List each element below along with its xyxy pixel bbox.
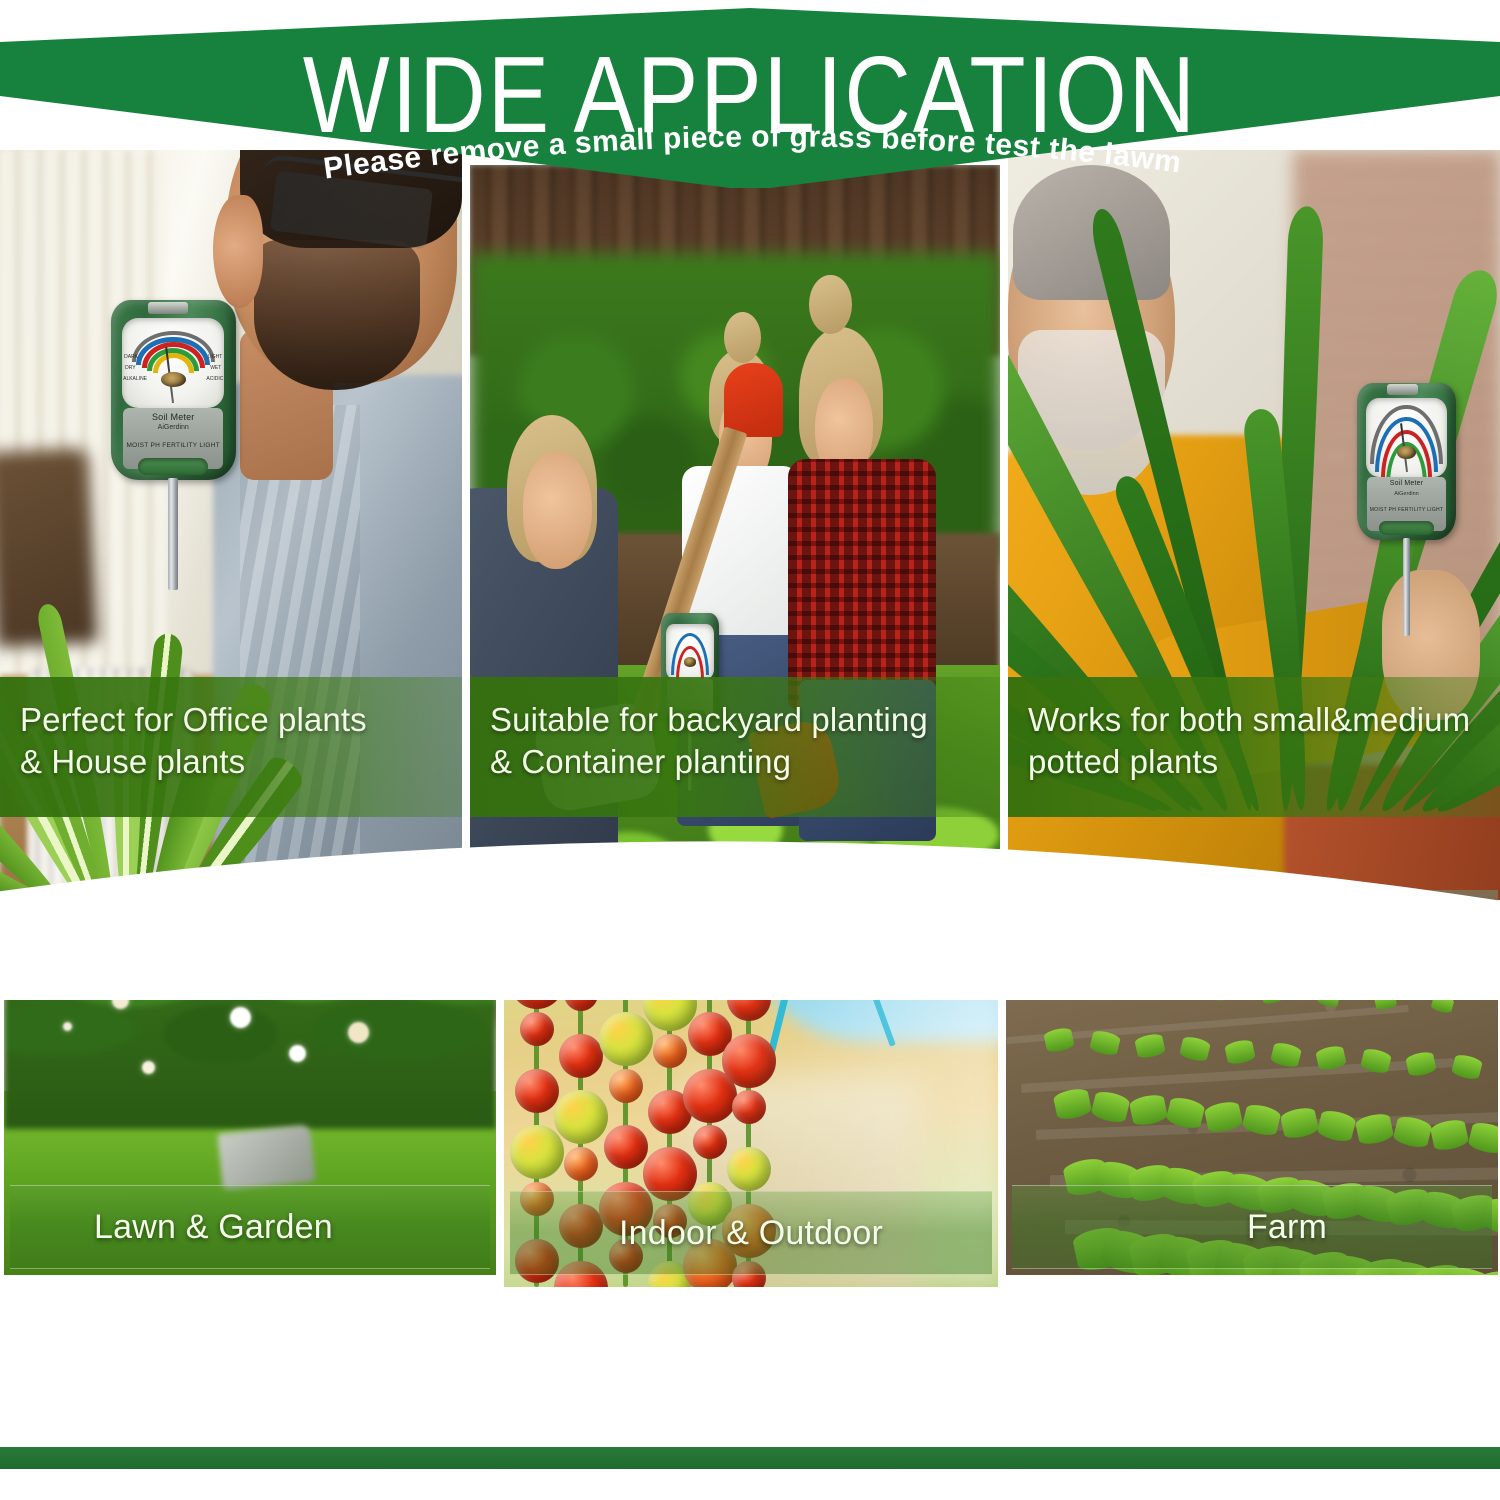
girl2-plaid-shirt [788, 459, 936, 709]
header-title-wrap: WIDE APPLICATION [0, 0, 1500, 200]
dial-label-wet: WET [210, 365, 221, 371]
caption-office-house-plants: Perfect for Office plants & House plants [0, 677, 462, 817]
footer-bar [0, 1447, 1500, 1469]
girl2-bun [809, 275, 851, 334]
header-banner: Please remove a small piece of grass bef… [0, 0, 1500, 200]
caption-line-1: Suitable for backyard planting [490, 699, 980, 741]
dial-label-alkaline: ALKALINE [123, 376, 147, 382]
caption-line-2: & House plants [20, 741, 442, 783]
meter-functions-label: MOIST PH FERTILITY LIGHT [111, 442, 236, 449]
panel-office-house-plants[interactable]: DARK LIGHT DRY WET ALKALINE ACIDIC Soil … [0, 150, 462, 900]
man-beard [254, 240, 420, 390]
caption-indoor-outdoor: Indoor & Outdoor [510, 1191, 992, 1275]
meter-needle-hub [684, 657, 695, 666]
meter-needle-hub [1397, 446, 1416, 459]
meter-top-cap [148, 302, 188, 315]
meter-mode-switch[interactable] [138, 458, 208, 474]
red-shovel-blade [724, 363, 782, 437]
meter-probe [168, 478, 178, 590]
dial-label-dark: DARK [124, 354, 138, 360]
dial-label-dry: DRY [125, 365, 135, 371]
meter-scale [128, 329, 218, 369]
dial-label-acidic: ACIDIC [206, 376, 223, 382]
soil-meter-device-1: DARK LIGHT DRY WET ALKALINE ACIDIC Soil … [111, 300, 236, 480]
watering-can [218, 1125, 317, 1192]
caption-line-2: & Container planting [490, 741, 980, 783]
panel-indoor-outdoor[interactable]: Indoor & Outdoor [504, 850, 998, 1287]
caption-line-2: potted plants [1028, 741, 1480, 783]
meter-brand-line2: AiGerdinn [1357, 491, 1455, 497]
meter-dial-face [666, 624, 714, 679]
meter-dial-face: DARK LIGHT DRY WET ALKALINE ACIDIC [122, 318, 224, 408]
page-title: WIDE APPLICATION [0, 34, 1500, 158]
panel-farm[interactable]: Farm [1006, 890, 1498, 1275]
caption-farm: Farm [1012, 1185, 1492, 1269]
caption-backyard-container-planting: Suitable for backyard planting & Contain… [470, 677, 1000, 817]
meter-brand-line1: Soil Meter [1357, 480, 1455, 487]
meter-dial-face [1366, 398, 1447, 477]
bottom-panel-row: Lawn & Garden Indoor & Outdoor Farm [0, 832, 1500, 1472]
panel-small-medium-potted-plants[interactable]: Soil Meter AiGerdinn MOIST PH FERTILITY … [1008, 150, 1500, 900]
spider-plant-foliage [0, 450, 268, 885]
panel-backyard-container-planting[interactable]: Suitable for backyard planting & Contain… [470, 165, 1000, 900]
soil-meter-device-3: Soil Meter AiGerdinn MOIST PH FERTILITY … [1357, 383, 1455, 541]
caption-small-medium-potted-plants: Works for both small&medium potted plant… [1008, 677, 1500, 817]
man-ear [213, 195, 264, 308]
meter-top-cap [1387, 384, 1418, 395]
marketing-infographic: DARK LIGHT DRY WET ALKALINE ACIDIC Soil … [0, 0, 1500, 1500]
caption-lawn-garden: Lawn & Garden [10, 1185, 490, 1269]
meter-brand-line2: AiGerdinn [111, 424, 236, 431]
caption-line-1: Perfect for Office plants [20, 699, 442, 741]
panel-lawn-garden[interactable]: Lawn & Garden [4, 892, 496, 1275]
dial-label-light: LIGHT [208, 354, 223, 360]
meter-mode-switch[interactable] [1379, 521, 1434, 535]
woman-face [523, 452, 592, 570]
caption-line-1: Works for both small&medium [1028, 699, 1480, 741]
meter-functions-label: MOIST PH FERTILITY LIGHT [1357, 507, 1455, 513]
meter-needle-hub [161, 372, 186, 387]
meter-probe [1403, 538, 1411, 636]
footer-white-space [0, 1469, 1500, 1500]
meter-brand-line1: Soil Meter [111, 412, 236, 422]
